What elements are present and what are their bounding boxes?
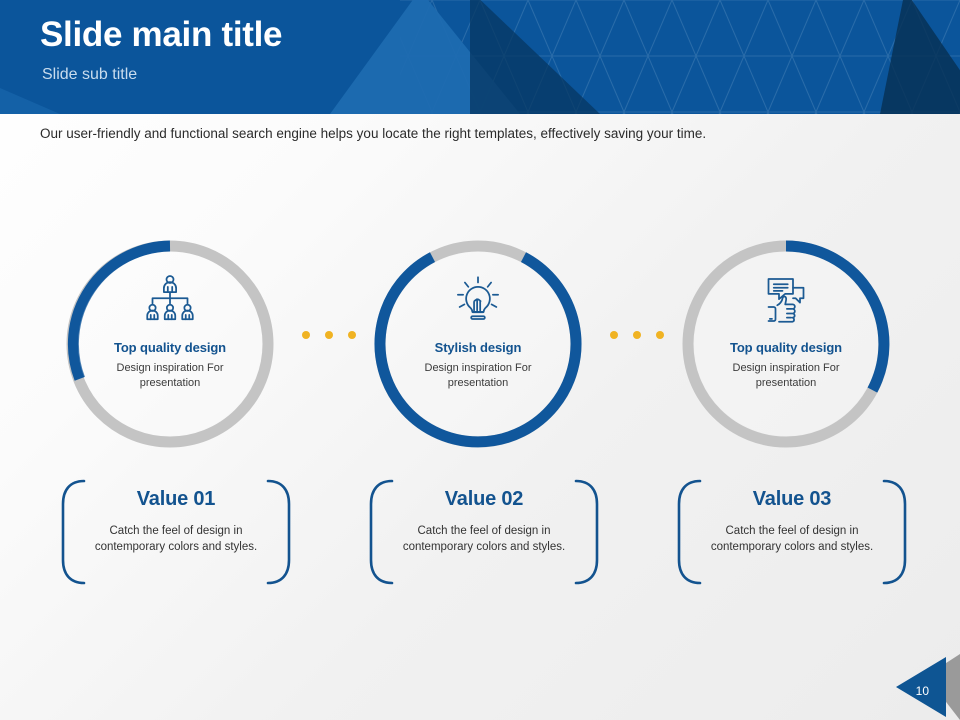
circle-description-3: Design inspiration For presentation xyxy=(721,361,851,391)
value-title-1: Value 01 xyxy=(137,488,215,511)
value-description-2: Catch the feel of design in contemporary… xyxy=(399,523,569,555)
value-description-3: Catch the feel of design in contemporary… xyxy=(707,523,877,555)
circle-card-2[interactable]: Stylish design Design inspiration For pr… xyxy=(370,236,586,452)
bracket-right-icon xyxy=(882,478,908,586)
header-text-block: Slide main title Slide sub title xyxy=(40,12,282,86)
value-card-2[interactable]: Value 02 Catch the feel of design in con… xyxy=(368,478,600,586)
bracket-right-icon xyxy=(574,478,600,586)
value-content-1: Value 01 Catch the feel of design in con… xyxy=(88,478,264,586)
separator-dot xyxy=(302,331,310,339)
circle-content-2: Stylish design Design inspiration For pr… xyxy=(370,236,586,452)
value-content-2: Value 02 Catch the feel of design in con… xyxy=(396,478,572,586)
bracket-left-icon xyxy=(676,478,702,586)
dot-separator-1 xyxy=(302,331,356,339)
separator-dot xyxy=(656,331,664,339)
page-subtitle: Slide sub title xyxy=(42,64,282,86)
feedback-thumbsup-icon xyxy=(758,272,814,328)
circle-card-3[interactable]: Top quality design Design inspiration Fo… xyxy=(678,236,894,452)
value-description-1: Catch the feel of design in contemporary… xyxy=(91,523,261,555)
circle-description-1: Design inspiration For presentation xyxy=(105,361,235,391)
page-title: Slide main title xyxy=(40,12,282,58)
circle-title-1: Top quality design xyxy=(114,340,226,355)
separator-dot xyxy=(325,331,333,339)
value-card-1[interactable]: Value 01 Catch the feel of design in con… xyxy=(60,478,292,586)
page-corner-graphic xyxy=(868,654,960,720)
bracket-left-icon xyxy=(368,478,394,586)
value-title-3: Value 03 xyxy=(753,488,831,511)
page-number: 10 xyxy=(916,684,929,698)
value-title-2: Value 02 xyxy=(445,488,523,511)
bracket-left-icon xyxy=(60,478,86,586)
circle-content-1: Top quality design Design inspiration Fo… xyxy=(62,236,278,452)
circle-row: Top quality design Design inspiration Fo… xyxy=(0,228,960,463)
org-chart-icon xyxy=(142,272,198,328)
circle-description-2: Design inspiration For presentation xyxy=(413,361,543,391)
circle-content-3: Top quality design Design inspiration Fo… xyxy=(678,236,894,452)
lead-paragraph: Our user-friendly and functional search … xyxy=(40,124,900,144)
value-card-3[interactable]: Value 03 Catch the feel of design in con… xyxy=(676,478,908,586)
bracket-right-icon xyxy=(266,478,292,586)
value-content-3: Value 03 Catch the feel of design in con… xyxy=(704,478,880,586)
slide-canvas: Slide main title Slide sub title Our use… xyxy=(0,0,960,720)
separator-dot xyxy=(610,331,618,339)
dot-separator-2 xyxy=(610,331,664,339)
slide-header: Slide main title Slide sub title xyxy=(0,0,960,114)
circle-title-2: Stylish design xyxy=(435,340,522,355)
separator-dot xyxy=(633,331,641,339)
circle-card-1[interactable]: Top quality design Design inspiration Fo… xyxy=(62,236,278,452)
separator-dot xyxy=(348,331,356,339)
lightbulb-icon xyxy=(450,272,506,328)
value-row: Value 01 Catch the feel of design in con… xyxy=(0,478,960,590)
circle-title-3: Top quality design xyxy=(730,340,842,355)
